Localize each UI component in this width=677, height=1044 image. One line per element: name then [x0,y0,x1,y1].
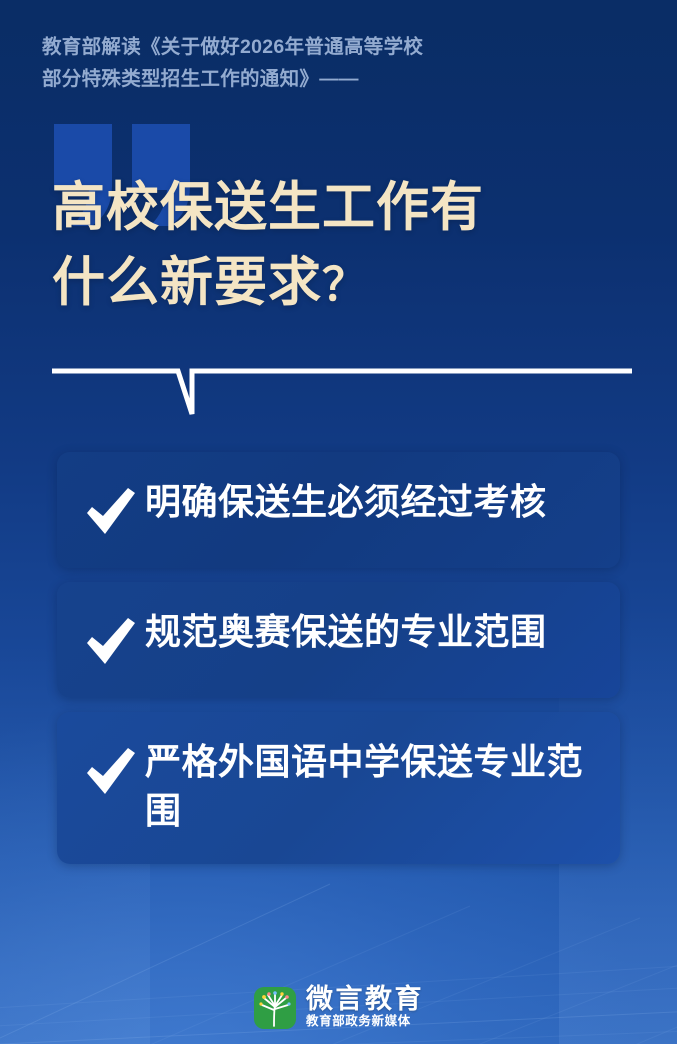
page-title: 高校保送生工作有 什么新要求？ [52,170,632,321]
check-icon [83,614,139,670]
check-icon [83,744,139,800]
title-line-2-text: 什么新要求 [52,253,322,312]
title-line-2: 什么新要求？ [52,245,632,320]
header-subtitle: 教育部解读《关于做好2026年普通高等学校 部分特殊类型招生工作的通知》—— [42,32,602,95]
list-item[interactable]: 规范奥赛保送的专业范围 [57,582,620,698]
header-line-2: 部分特殊类型招生工作的通知》—— [42,64,602,96]
list-item[interactable]: 明确保送生必须经过考核 [57,452,620,568]
footer-brand: 微言教育 教育部政务新媒体 [0,985,677,1030]
list-item-label: 严格外国语中学保送专业范围 [139,738,598,836]
notched-divider-icon [52,362,632,424]
points-list: 明确保送生必须经过考核 规范奥赛保送的专业范围 严格外国语中学保送专业范围 [57,452,620,878]
dandelion-logo-icon [253,986,297,1030]
list-item[interactable]: 严格外国语中学保送专业范围 [57,712,620,864]
title-question-mark: ？ [322,259,368,310]
check-icon [83,484,139,540]
footer-brand-subtitle: 教育部政务新媒体 [306,1014,411,1030]
poster-canvas: 教育部解读《关于做好2026年普通高等学校 部分特殊类型招生工作的通知》—— 高… [0,0,677,1044]
footer-brand-name: 微言教育 [306,985,424,1013]
footer-brand-text: 微言教育 教育部政务新媒体 [306,985,424,1030]
header-line-1: 教育部解读《关于做好2026年普通高等学校 [42,36,423,58]
list-item-label: 明确保送生必须经过考核 [139,478,598,527]
list-item-label: 规范奥赛保送的专业范围 [139,608,598,657]
title-line-1: 高校保送生工作有 [52,178,484,237]
